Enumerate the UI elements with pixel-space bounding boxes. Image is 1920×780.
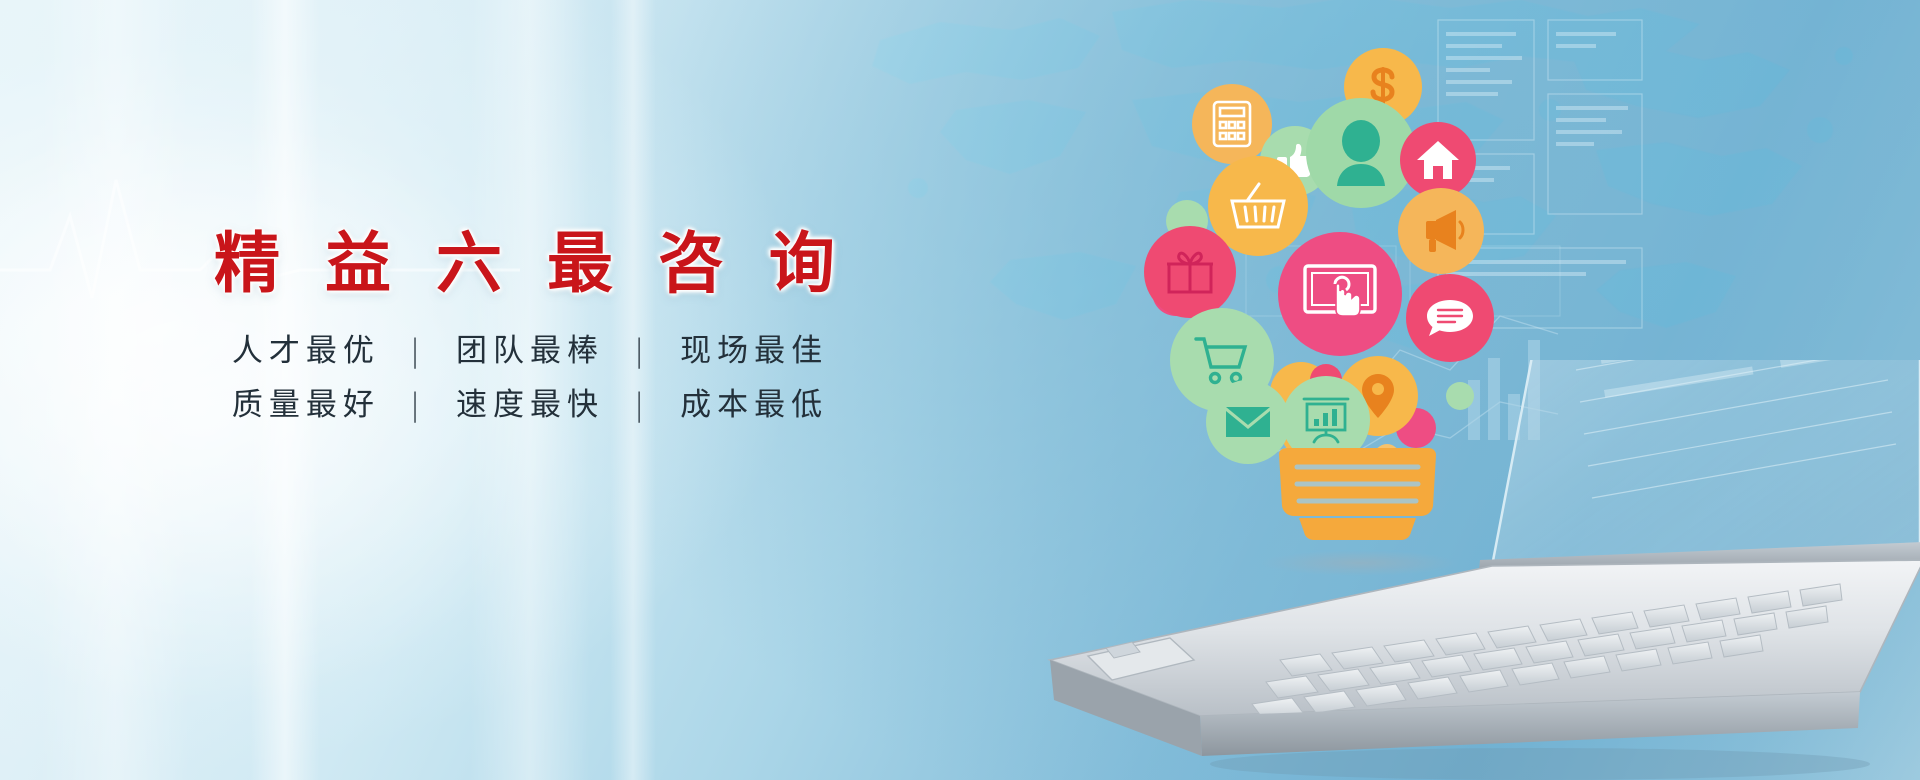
banner-subtitle: 人才最优 | 团队最棒 | 现场最佳 质量最好 | 速度最快 | 成本最低 [0, 325, 1060, 432]
home-icon [1400, 122, 1476, 198]
gift-icon [1144, 226, 1236, 318]
subtitle-item: 质量最好 [232, 387, 380, 423]
touchscreen-icon [1278, 232, 1402, 356]
subtitle-row-1: 人才最优 | 团队最棒 | 现场最佳 [0, 325, 1060, 378]
banner-copy: 精 益 六 最 咨 询 人才最优 | 团队最棒 | 现场最佳 质量最好 | 速度… [0, 228, 1060, 432]
megaphone-icon [1398, 188, 1484, 274]
subtitle-item: 人才最优 [232, 333, 380, 369]
subtitle-item: 速度最快 [456, 387, 604, 423]
chat-bubble-icon [1406, 274, 1494, 362]
page-title: 精 益 六 最 咨 询 [0, 228, 1060, 299]
subtitle-separator: | [396, 387, 440, 423]
subtitle-item: 现场最佳 [680, 333, 828, 369]
hero-banner: 精 益 六 最 咨 询 人才最优 | 团队最棒 | 现场最佳 质量最好 | 速度… [0, 0, 1920, 780]
subtitle-separator: | [396, 333, 440, 369]
subtitle-item: 成本最低 [680, 387, 828, 423]
subtitle-separator: | [620, 333, 664, 369]
laptop-graphic [980, 360, 1920, 780]
subtitle-item: 团队最棒 [456, 333, 604, 369]
subtitle-separator: | [620, 387, 664, 423]
subtitle-row-2: 质量最好 | 速度最快 | 成本最低 [0, 379, 1060, 432]
